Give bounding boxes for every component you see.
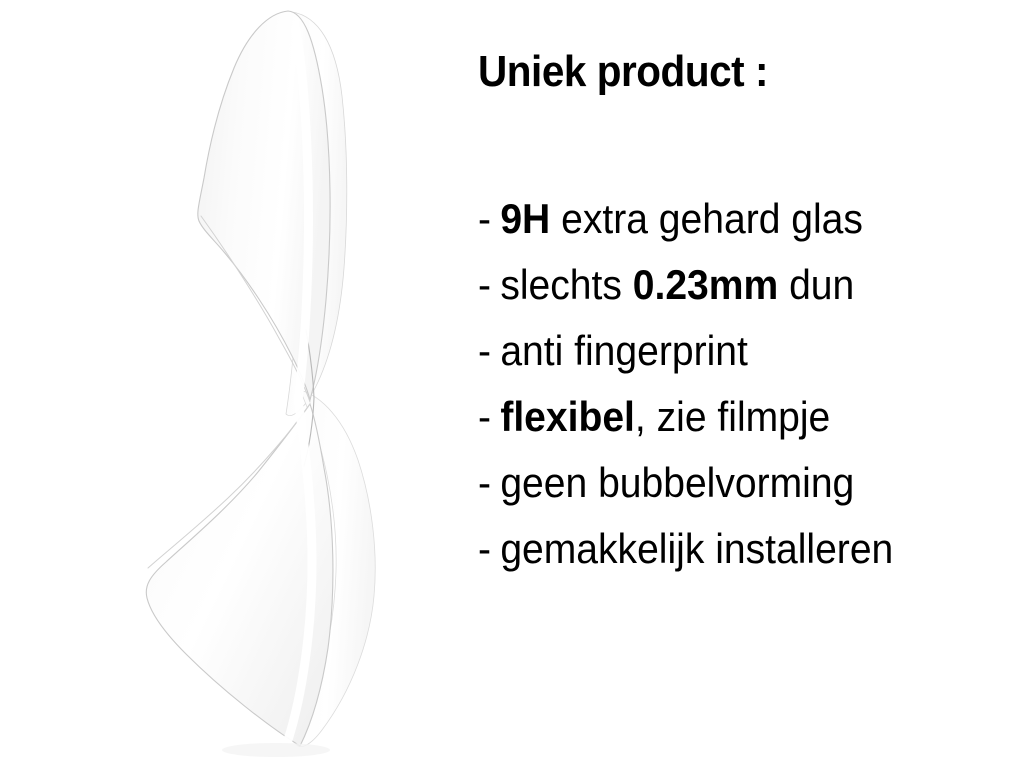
bullet-dash: -: [478, 318, 500, 384]
bullet-dash: -: [478, 252, 500, 318]
page-title: Uniek product :: [478, 44, 980, 100]
feature-text-post: , zie filmpje: [635, 393, 830, 440]
feature-text-pre: anti fingerprint: [500, 327, 748, 374]
list-item: -flexibel, zie filmpje: [478, 384, 986, 450]
feature-text-pre: gemakkelijk installeren: [500, 525, 893, 572]
bullet-dash: -: [478, 450, 500, 516]
list-item: -geen bubbelvorming: [478, 450, 986, 516]
list-item: -gemakkelijk installeren: [478, 516, 986, 582]
feature-list: -9H extra gehard glas -slechts 0.23mm du…: [478, 186, 1024, 582]
feature-text-post: extra gehard glas: [550, 195, 863, 242]
list-item: -anti fingerprint: [478, 318, 986, 384]
feature-text-emphasis: flexibel: [500, 393, 635, 440]
list-item: -9H extra gehard glas: [478, 186, 986, 252]
promo-banner: Uniek product : -9H extra gehard glas -s…: [0, 0, 1024, 768]
feature-text-pre: slechts: [500, 261, 632, 308]
glass-contact-shadow: [222, 743, 330, 757]
list-item: -slechts 0.23mm dun: [478, 252, 986, 318]
feature-text-post: dun: [778, 261, 854, 308]
bullet-dash: -: [478, 186, 500, 252]
feature-text-pre: geen bubbelvorming: [500, 459, 854, 506]
feature-text-emphasis: 0.23mm: [633, 261, 778, 308]
bullet-dash: -: [478, 516, 500, 582]
copy-block: Uniek product : -9H extra gehard glas -s…: [478, 44, 1024, 100]
product-image: [0, 0, 440, 768]
bullet-dash: -: [478, 384, 500, 450]
feature-text-emphasis: 9H: [500, 195, 550, 242]
